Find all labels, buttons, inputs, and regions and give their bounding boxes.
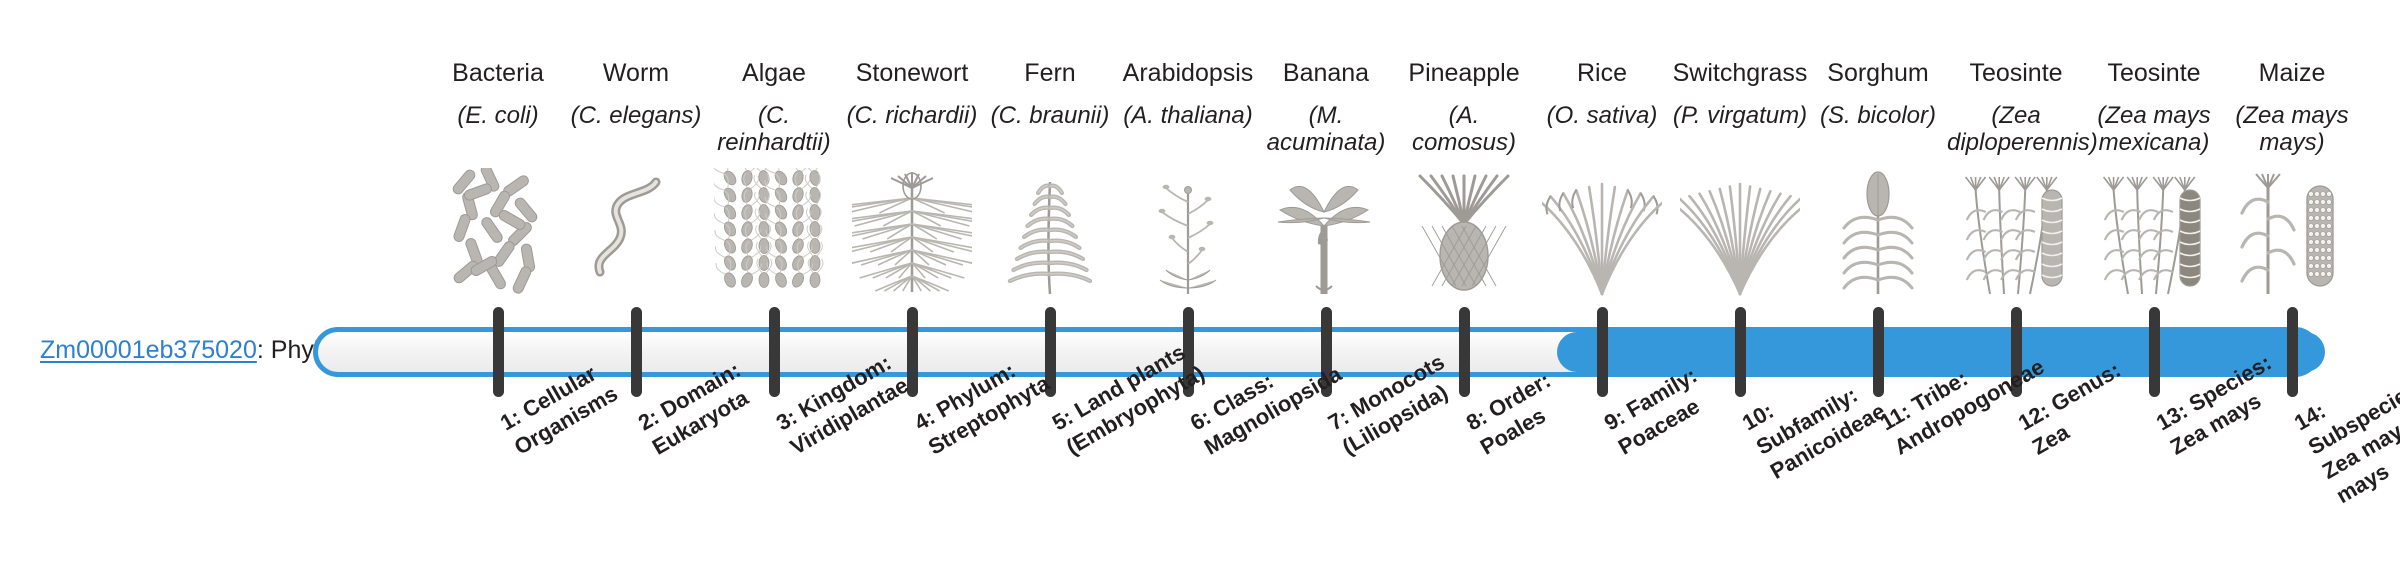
species-common-name: Arabidopsis [1119, 60, 1257, 86]
species-column: Teosinte(Zea mays mexicana) [2085, 0, 2223, 580]
species-column: Switchgrass(P. virgatum) [1671, 0, 1809, 580]
species-column: Worm(C. elegans) [567, 0, 705, 580]
species-scientific-name: (Zea mays mays) [2223, 103, 2361, 157]
species-common-name: Teosinte [2085, 60, 2223, 86]
species-column: Pineapple(A. comosus) [1395, 0, 1533, 580]
species-column: Bacteria(E. coli) [429, 0, 567, 580]
green-algae-illustration [714, 168, 834, 298]
species-columns: Bacteria(E. coli) [429, 0, 2363, 580]
species-common-name: Rice [1533, 60, 1671, 86]
species-common-name: Fern [981, 60, 1119, 86]
phylostratum-bar-fill [1557, 332, 2325, 372]
species-column: Banana(M. acuminata) [1257, 0, 1395, 580]
species-scientific-name: (C. elegans) [567, 103, 705, 130]
bacteria-illustration [438, 168, 558, 298]
fern-illustration [990, 168, 1110, 298]
species-scientific-name: (C. richardii) [843, 103, 981, 130]
stonewort-illustration [852, 168, 972, 298]
maize-illustration [2232, 168, 2352, 298]
phylostratum-tick[interactable] [493, 307, 504, 397]
species-common-name: Bacteria [429, 60, 567, 86]
species-common-name: Sorghum [1809, 60, 1947, 86]
banana-plant-illustration [1266, 168, 1386, 298]
pineapple-illustration [1404, 168, 1524, 298]
species-common-name: Banana [1257, 60, 1395, 86]
species-column: Algae(C. reinhardtii) [705, 0, 843, 580]
switchgrass-illustration [1680, 168, 1800, 298]
species-column: Teosinte(Zea diploperennis) [1947, 0, 2085, 580]
rice-plant-illustration [1542, 168, 1662, 298]
sorghum-illustration [1818, 168, 1938, 298]
phylostratigraphy-figure: Zm00001eb375020: Phylostratum 9 Bacteria… [0, 0, 2400, 580]
teosinte-mexicana-illustration [2094, 168, 2214, 298]
species-column: Fern(C. braunii) [981, 0, 1119, 580]
species-column: Stonewort(C. richardii) [843, 0, 981, 580]
species-scientific-name: (Zea diploperennis) [1947, 103, 2085, 157]
nematode-worm-illustration [576, 168, 696, 298]
species-common-name: Stonewort [843, 60, 981, 86]
species-column: Sorghum(S. bicolor) [1809, 0, 1947, 580]
species-common-name: Algae [705, 60, 843, 86]
species-scientific-name: (Zea mays mexicana) [2085, 103, 2223, 157]
species-column: Arabidopsis(A. thaliana) [1119, 0, 1257, 580]
species-common-name: Switchgrass [1671, 60, 1809, 86]
species-scientific-name: (E. coli) [429, 103, 567, 130]
species-scientific-name: (A. comosus) [1395, 103, 1533, 157]
species-column: Rice(O. sativa) [1533, 0, 1671, 580]
teosinte-diploperennis-illustration [1956, 168, 2076, 298]
species-scientific-name: (C. reinhardtii) [705, 103, 843, 157]
species-scientific-name: (P. virgatum) [1671, 103, 1809, 130]
species-scientific-name: (A. thaliana) [1119, 103, 1257, 130]
species-scientific-name: (O. sativa) [1533, 103, 1671, 130]
species-common-name: Teosinte [1947, 60, 2085, 86]
species-scientific-name: (S. bicolor) [1809, 103, 1947, 130]
species-common-name: Worm [567, 60, 705, 86]
species-scientific-name: (C. braunii) [981, 103, 1119, 130]
species-scientific-name: (M. acuminata) [1257, 103, 1395, 157]
species-common-name: Pineapple [1395, 60, 1533, 86]
species-common-name: Maize [2223, 60, 2361, 86]
arabidopsis-illustration [1128, 168, 1248, 298]
